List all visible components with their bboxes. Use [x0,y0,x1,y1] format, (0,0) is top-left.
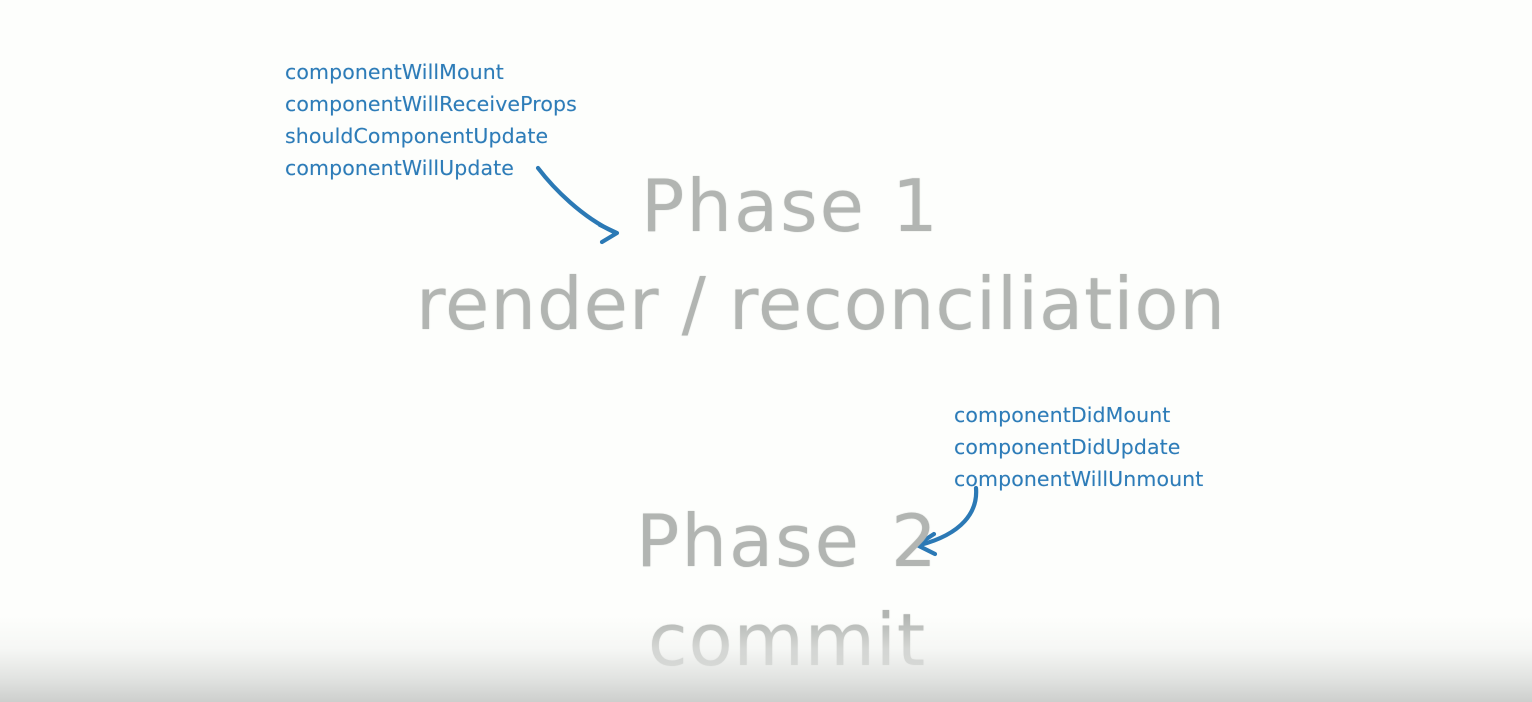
phase-1-subtitle-left: render [416,262,660,346]
phase-1-subtitle-separator: / [682,262,707,346]
method-item: componentDidUpdate [954,431,1203,463]
phase-1-subtitle-right: reconciliation [729,262,1226,346]
method-item: componentWillReceiveProps [285,88,577,120]
phase-2-title-number: 2 [891,499,939,583]
whiteboard-canvas: componentWillMount componentWillReceiveP… [0,0,1532,702]
phase2-method-list: componentDidMount componentDidUpdate com… [954,399,1203,495]
phase-1-title: Phase1 [641,164,940,248]
phase-2-title-word: Phase [636,499,861,583]
phase-1-subtitle: render/reconciliation [416,262,1226,346]
method-item: componentWillMount [285,56,577,88]
phase-2-subtitle: commit [648,598,926,682]
method-item: shouldComponentUpdate [285,120,577,152]
phase1-method-list: componentWillMount componentWillReceiveP… [285,56,577,184]
method-item: componentWillUnmount [954,463,1203,495]
phase-1-title-word: Phase [641,164,866,248]
phase-1-title-number: 1 [892,164,940,248]
method-item: componentWillUpdate [285,152,577,184]
phase-2-title: Phase2 [636,499,939,583]
method-item: componentDidMount [954,399,1203,431]
